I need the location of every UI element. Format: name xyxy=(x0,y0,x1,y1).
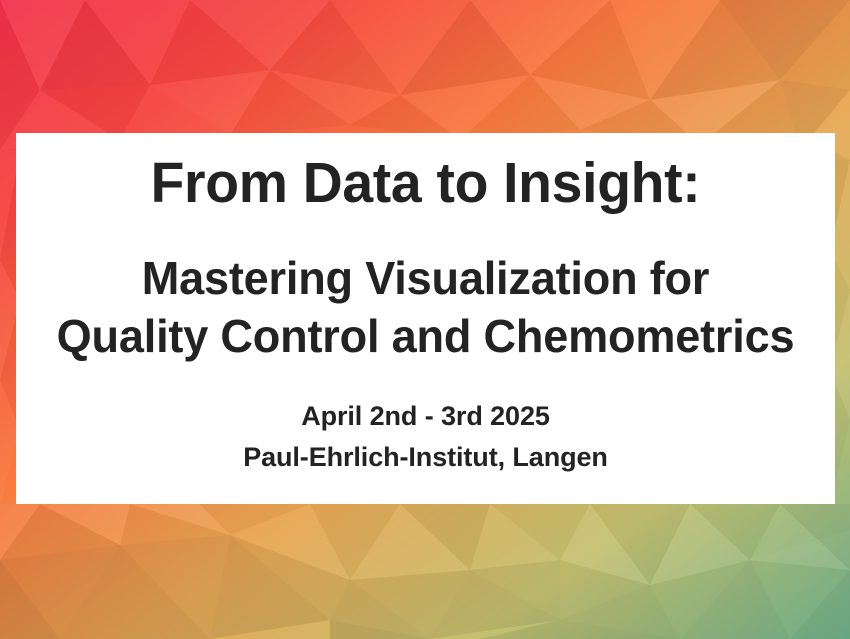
title-card: From Data to Insight: Mastering Visualiz… xyxy=(16,133,835,504)
page-subtitle-line-1: Mastering Visualization for xyxy=(24,250,827,308)
poster-canvas: From Data to Insight: Mastering Visualiz… xyxy=(0,0,850,639)
event-date: April 2nd - 3rd 2025 xyxy=(16,396,835,437)
page-title: From Data to Insight: xyxy=(28,155,822,212)
page-subtitle: Mastering Visualization for Quality Cont… xyxy=(24,250,827,366)
page-subtitle-line-2: Quality Control and Chemometrics xyxy=(24,308,827,366)
event-details: April 2nd - 3rd 2025 Paul-Ehrlich-Instit… xyxy=(16,396,835,479)
event-venue: Paul-Ehrlich-Institut, Langen xyxy=(16,437,835,478)
